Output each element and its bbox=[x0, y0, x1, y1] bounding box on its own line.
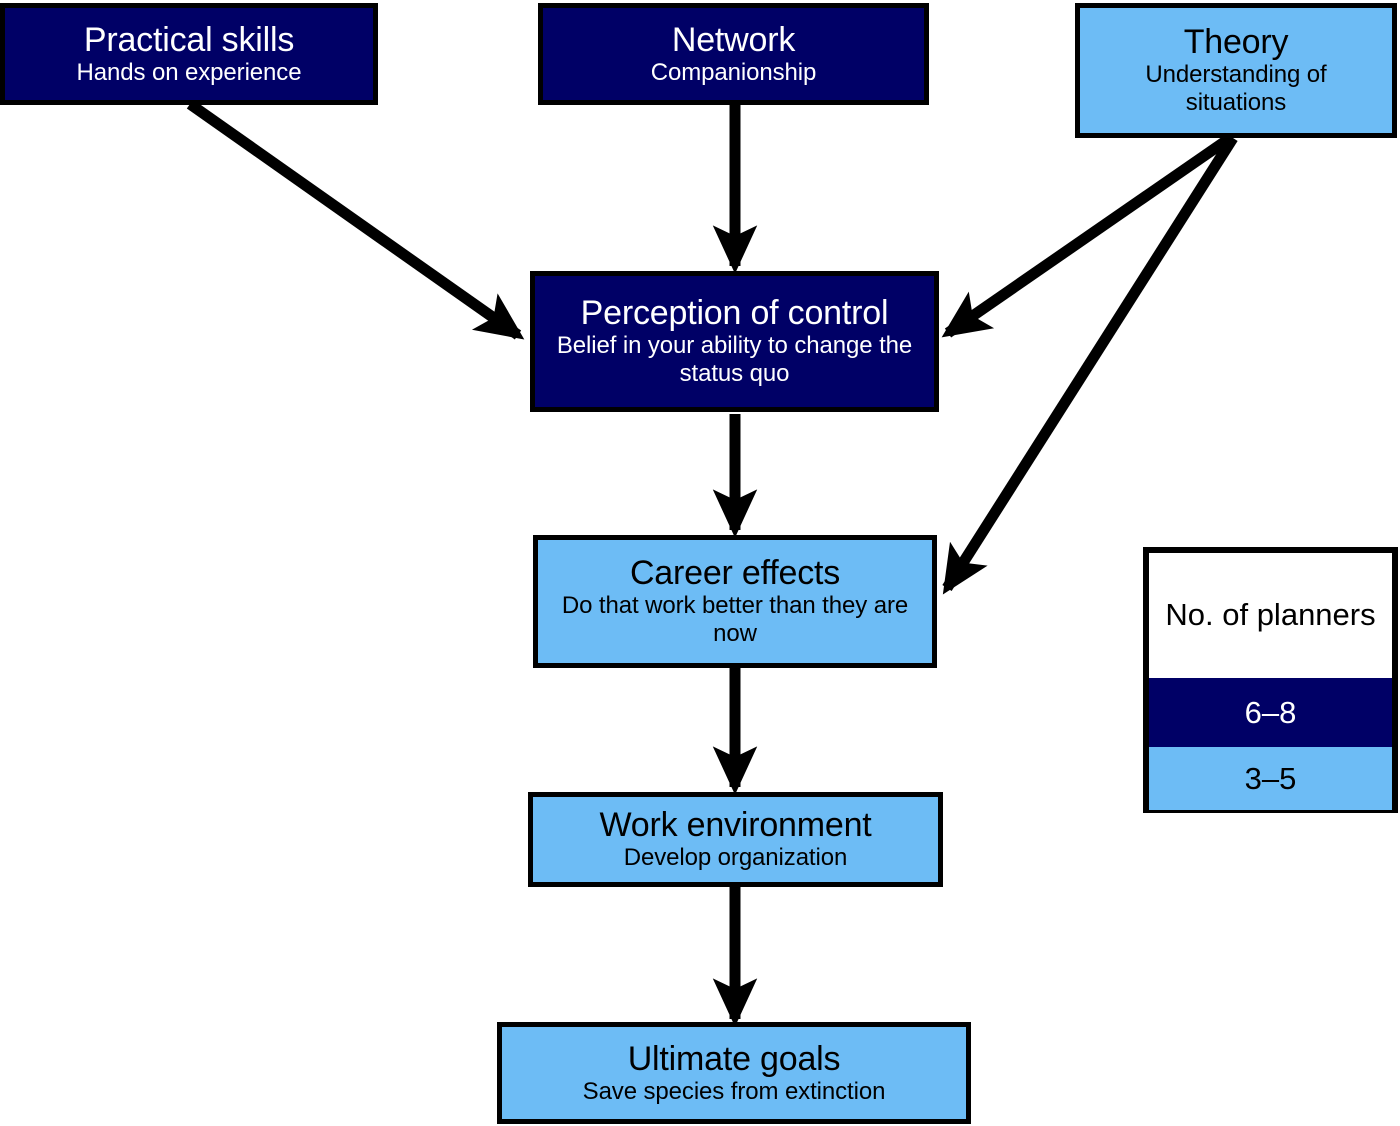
legend-row-label: 3–5 bbox=[1245, 761, 1297, 797]
node-title: Work environment bbox=[599, 807, 871, 843]
node-subtitle: Understanding of situations bbox=[1116, 61, 1356, 117]
node-work-environment[interactable]: Work environment Develop organization bbox=[528, 792, 943, 887]
legend-row-3-5: 3–5 bbox=[1149, 747, 1392, 810]
edge-practical-skills-to-perception-of-control bbox=[190, 104, 518, 335]
node-title: Network bbox=[672, 22, 795, 58]
node-title: Practical skills bbox=[84, 22, 294, 58]
node-subtitle: Companionship bbox=[651, 59, 816, 87]
node-subtitle: Belief in your ability to change the sta… bbox=[549, 332, 921, 388]
node-title: Career effects bbox=[630, 555, 840, 591]
node-theory[interactable]: Theory Understanding of situations bbox=[1075, 3, 1397, 138]
edge-theory-to-perception-of-control bbox=[948, 138, 1230, 333]
node-subtitle: Save species from extinction bbox=[583, 1078, 886, 1106]
node-title: Perception of control bbox=[581, 295, 889, 331]
node-subtitle: Do that work better than they are now bbox=[549, 592, 921, 648]
node-title: Ultimate goals bbox=[628, 1041, 841, 1077]
legend-row-6-8: 6–8 bbox=[1149, 678, 1392, 747]
node-network[interactable]: Network Companionship bbox=[538, 3, 929, 105]
node-perception-of-control[interactable]: Perception of control Belief in your abi… bbox=[530, 271, 939, 412]
node-subtitle: Hands on experience bbox=[77, 59, 302, 87]
legend: No. of planners 6–8 3–5 bbox=[1143, 547, 1398, 813]
node-practical-skills[interactable]: Practical skills Hands on experience bbox=[0, 3, 378, 105]
node-title: Theory bbox=[1184, 24, 1289, 60]
legend-row-label: 6–8 bbox=[1245, 695, 1297, 731]
edge-theory-to-career-effects bbox=[947, 138, 1233, 588]
flowchart-canvas: Practical skills Hands on experience Net… bbox=[0, 0, 1400, 1126]
node-ultimate-goals[interactable]: Ultimate goals Save species from extinct… bbox=[497, 1022, 971, 1124]
node-subtitle: Develop organization bbox=[624, 844, 847, 872]
node-career-effects[interactable]: Career effects Do that work better than … bbox=[533, 535, 937, 668]
legend-title: No. of planners bbox=[1149, 553, 1392, 678]
